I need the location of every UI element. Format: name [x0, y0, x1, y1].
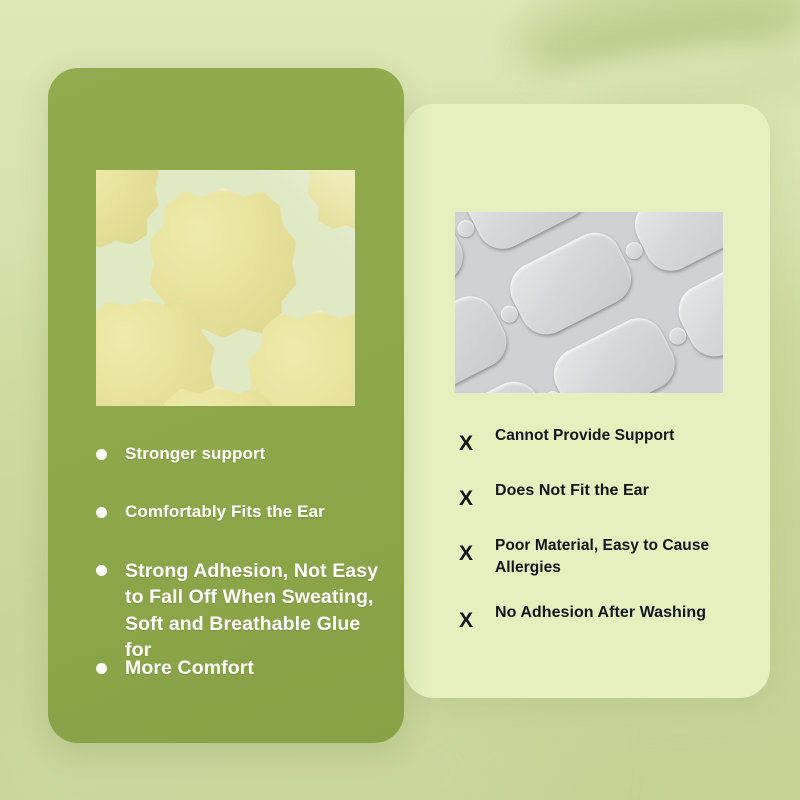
list-item: X No Adhesion After Washing [455, 602, 755, 633]
cons-list: X Cannot Provide Support X Does Not Fit … [455, 425, 755, 657]
list-item-label: Poor Material, Easy to Cause Allergies [495, 535, 755, 578]
flower-pad [96, 298, 216, 406]
pros-card: Stronger support Comfortably Fits the Ea… [48, 68, 404, 743]
list-item-label: Strong Adhesion, Not Easy to Fall Off Wh… [125, 558, 388, 663]
x-mark-icon: X [455, 431, 477, 456]
list-item-label: Does Not Fit the Ear [495, 480, 649, 502]
list-item: Stronger support [96, 442, 388, 466]
cons-card: X Cannot Provide Support X Does Not Fit … [404, 104, 770, 698]
list-item: Strong Adhesion, Not Easy to Fall Off Wh… [96, 558, 388, 663]
list-item: Comfortably Fits the Ear [96, 500, 388, 524]
list-item: X Cannot Provide Support [455, 425, 755, 456]
cons-product-photo [455, 212, 723, 393]
list-item-label: Stronger support [125, 442, 265, 466]
x-mark-icon: X [455, 486, 477, 511]
list-item: X Poor Material, Easy to Cause Allergies [455, 535, 755, 578]
bullet-dot-icon [96, 449, 107, 460]
bullet-dot-icon [96, 565, 107, 576]
comparison-infographic: X Cannot Provide Support X Does Not Fit … [0, 0, 800, 800]
flower-pad [96, 170, 160, 248]
bullet-dot-icon [96, 663, 107, 674]
tape-grid [455, 212, 723, 393]
x-mark-icon: X [455, 608, 477, 633]
pros-product-photo [96, 170, 355, 406]
list-item: X Does Not Fit the Ear [455, 480, 755, 511]
bullet-dot-icon [96, 507, 107, 518]
list-item-label: Cannot Provide Support [495, 425, 674, 446]
x-mark-icon: X [455, 541, 477, 566]
list-item-label: Comfortably Fits the Ear [125, 500, 325, 524]
tape-piece [455, 287, 515, 393]
list-item-label: More Comfort [125, 655, 254, 681]
list-item-label: No Adhesion After Washing [495, 602, 706, 624]
pros-list: Stronger support Comfortably Fits the Ea… [96, 442, 388, 707]
